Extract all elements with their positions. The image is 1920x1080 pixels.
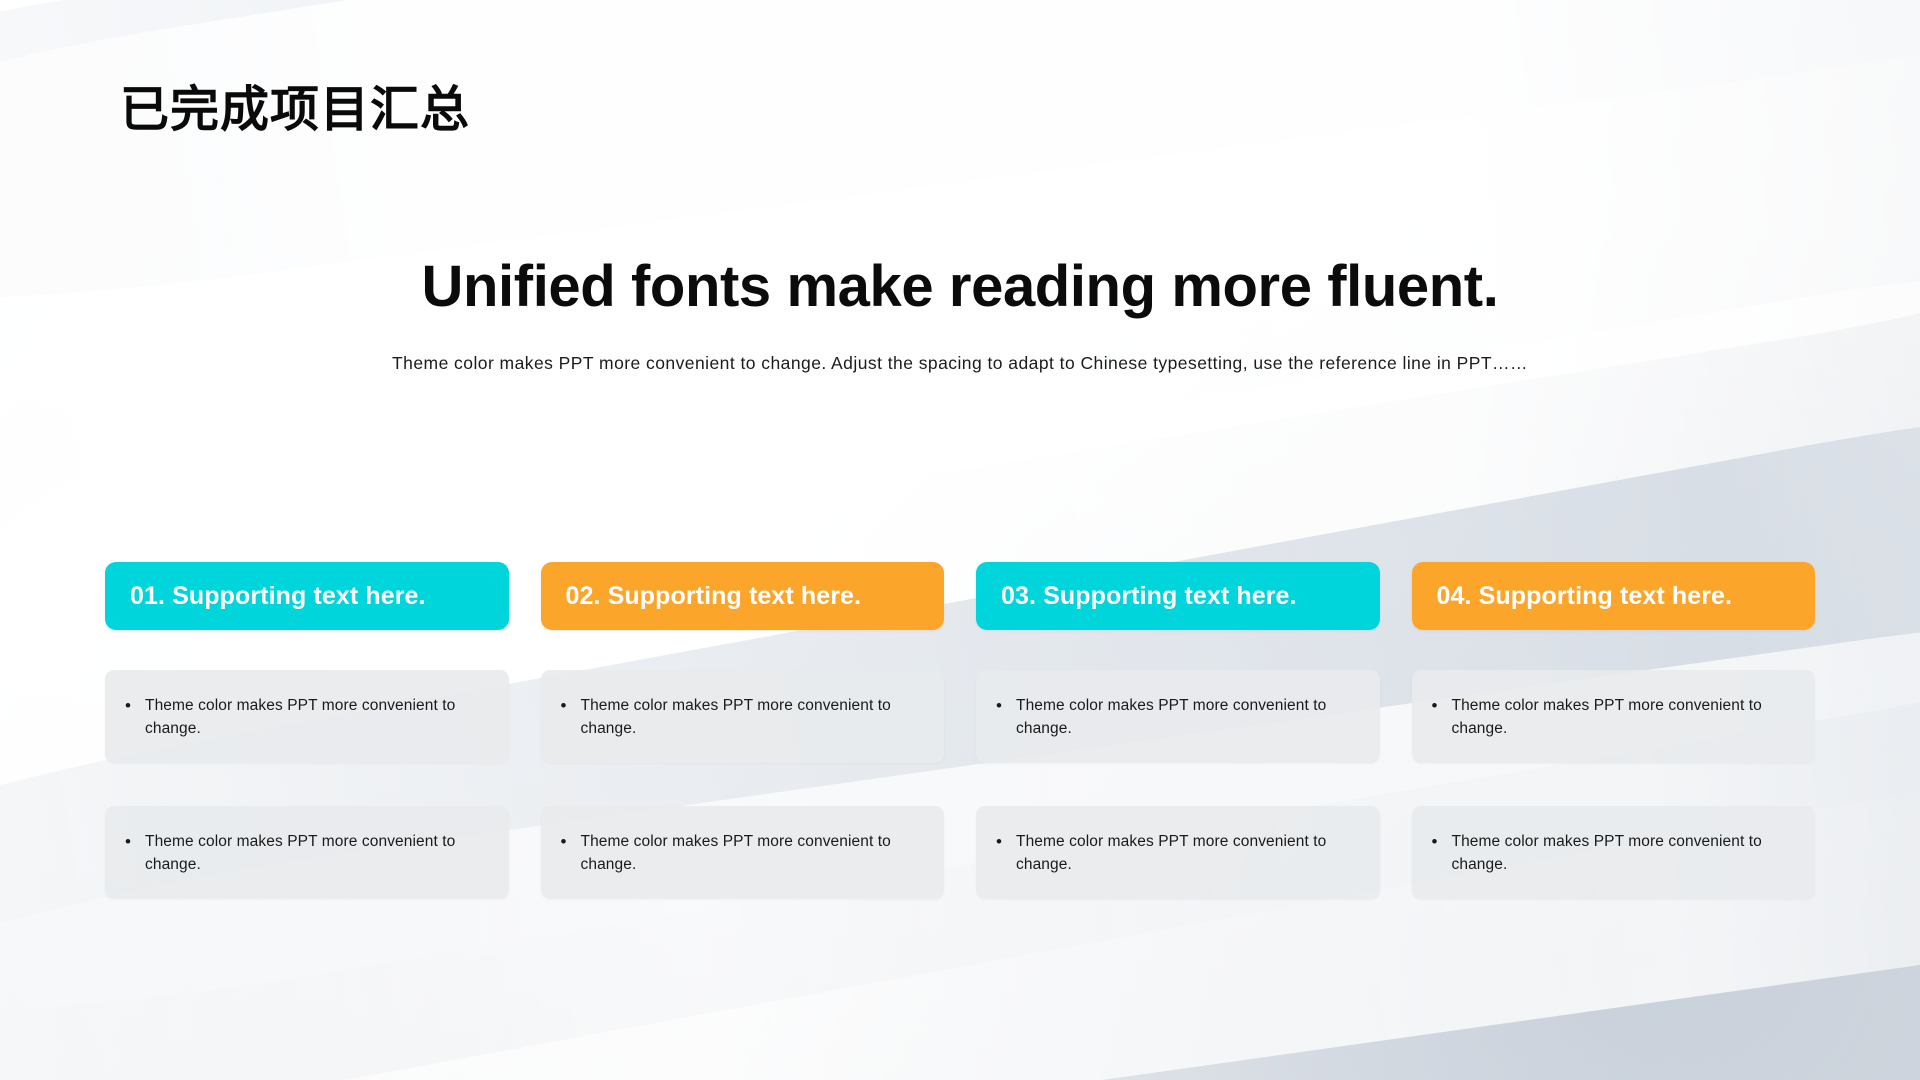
info-box-03-1[interactable]: • Theme color makes PPT more convenient … — [976, 670, 1380, 763]
info-box-04-2[interactable]: • Theme color makes PPT more convenient … — [1412, 806, 1816, 899]
bullet-text: Theme color makes PPT more convenient to… — [145, 830, 489, 876]
column-header-02[interactable]: 02. Supporting text here. — [541, 562, 945, 630]
info-box-03-2[interactable]: • Theme color makes PPT more convenient … — [976, 806, 1380, 899]
bullet-row: • Theme color makes PPT more convenient … — [559, 694, 925, 740]
info-box-01-2[interactable]: • Theme color makes PPT more convenient … — [105, 806, 509, 899]
info-box-02-2[interactable]: • Theme color makes PPT more convenient … — [541, 806, 945, 899]
column-01: 01. Supporting text here. • Theme color … — [105, 562, 509, 899]
bullet-text: Theme color makes PPT more convenient to… — [1452, 694, 1796, 740]
info-box-02-1[interactable]: • Theme color makes PPT more convenient … — [541, 670, 945, 763]
bullet-row: • Theme color makes PPT more convenient … — [123, 694, 489, 740]
bullet-row: • Theme color makes PPT more convenient … — [994, 830, 1360, 876]
info-box-01-1[interactable]: • Theme color makes PPT more convenient … — [105, 670, 509, 763]
bullet-icon: • — [1430, 830, 1452, 853]
columns-container: 01. Supporting text here. • Theme color … — [105, 562, 1815, 899]
slide-content: 已完成项目汇总 Unified fonts make reading more … — [0, 0, 1920, 1080]
bullet-icon: • — [559, 830, 581, 853]
column-02: 02. Supporting text here. • Theme color … — [541, 562, 945, 899]
bullet-icon: • — [994, 694, 1016, 717]
bullet-text: Theme color makes PPT more convenient to… — [1452, 830, 1796, 876]
bullet-text: Theme color makes PPT more convenient to… — [581, 830, 925, 876]
bullet-text: Theme color makes PPT more convenient to… — [1016, 830, 1360, 876]
headline: Unified fonts make reading more fluent. — [0, 255, 1920, 319]
column-04: 04. Supporting text here. • Theme color … — [1412, 562, 1816, 899]
info-box-04-1[interactable]: • Theme color makes PPT more convenient … — [1412, 670, 1816, 763]
bullet-row: • Theme color makes PPT more convenient … — [123, 830, 489, 876]
subheadline: Theme color makes PPT more convenient to… — [0, 352, 1920, 375]
column-header-01[interactable]: 01. Supporting text here. — [105, 562, 509, 630]
bullet-row: • Theme color makes PPT more convenient … — [1430, 694, 1796, 740]
bullet-icon: • — [123, 830, 145, 853]
bullet-icon: • — [559, 694, 581, 717]
bullet-text: Theme color makes PPT more convenient to… — [1016, 694, 1360, 740]
bullet-text: Theme color makes PPT more convenient to… — [145, 694, 489, 740]
bullet-icon: • — [123, 694, 145, 717]
column-03: 03. Supporting text here. • Theme color … — [976, 562, 1380, 899]
column-header-03[interactable]: 03. Supporting text here. — [976, 562, 1380, 630]
bullet-text: Theme color makes PPT more convenient to… — [581, 694, 925, 740]
column-header-04[interactable]: 04. Supporting text here. — [1412, 562, 1816, 630]
bullet-row: • Theme color makes PPT more convenient … — [559, 830, 925, 876]
page-title: 已完成项目汇总 — [120, 82, 470, 139]
bullet-icon: • — [994, 830, 1016, 853]
bullet-row: • Theme color makes PPT more convenient … — [1430, 830, 1796, 876]
bullet-row: • Theme color makes PPT more convenient … — [994, 694, 1360, 740]
bullet-icon: • — [1430, 694, 1452, 717]
